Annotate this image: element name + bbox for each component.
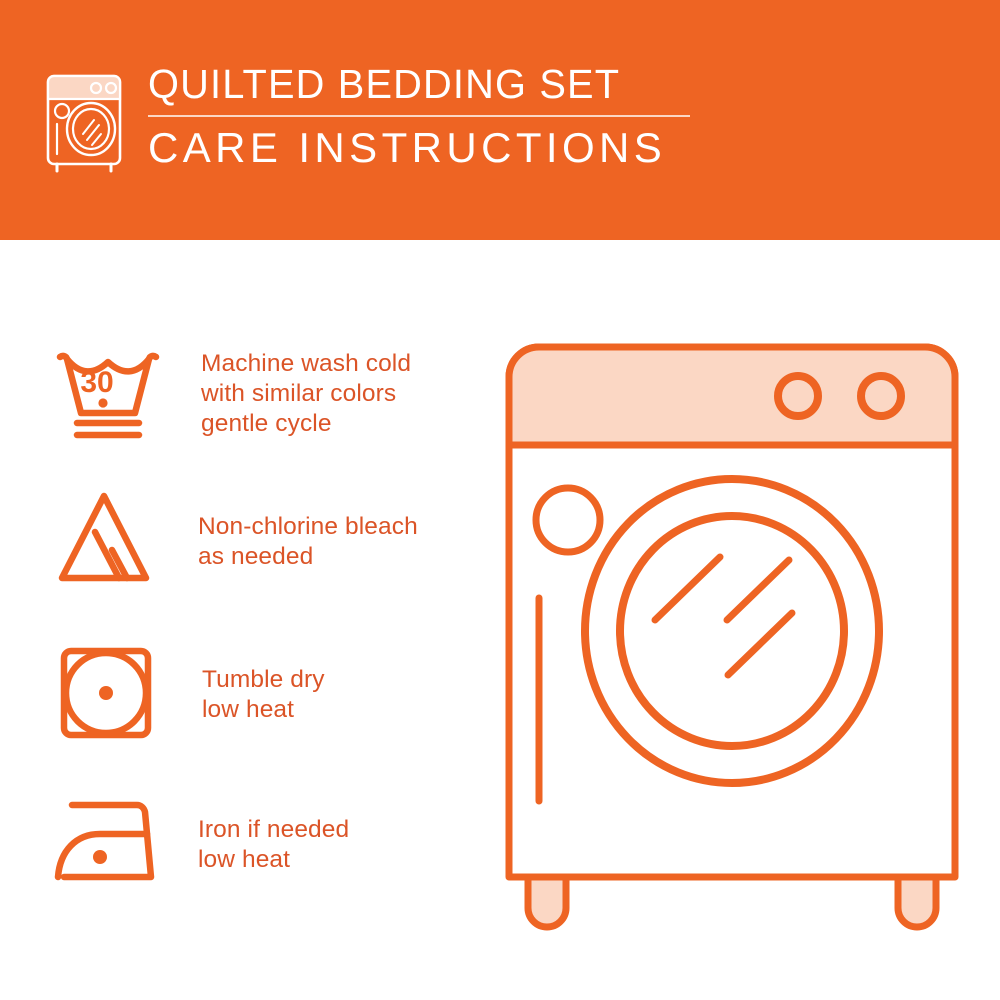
bleach-triangle-icon xyxy=(50,488,166,588)
machine-knob-2 xyxy=(861,376,901,416)
list-item: Non-chlorine bleach as needed xyxy=(50,488,418,588)
wash-temperature-label: 30 xyxy=(80,366,113,399)
list-item: Iron if needed low heat xyxy=(50,793,349,893)
title-block: QUILTED BEDDING SET CARE INSTRUCTIONS xyxy=(148,62,690,171)
list-item-label: Non-chlorine bleach as needed xyxy=(166,488,418,572)
wash-dot-icon xyxy=(98,398,107,407)
wash-basin-30-icon: 30 xyxy=(50,345,166,445)
list-item-label: Iron if needed low heat xyxy=(166,793,349,875)
machine-door-inner-ring xyxy=(620,516,844,746)
header-content: QUILTED BEDDING SET CARE INSTRUCTIONS xyxy=(42,62,690,175)
machine-indicator-light xyxy=(536,488,600,552)
title-divider xyxy=(148,115,690,117)
iron-low-heat-icon xyxy=(50,793,166,893)
list-item-label: Tumble dry low heat xyxy=(166,643,325,725)
list-item: Tumble dry low heat xyxy=(50,643,325,743)
page-header: QUILTED BEDDING SET CARE INSTRUCTIONS xyxy=(0,0,1000,240)
machine-foot-left xyxy=(528,875,566,927)
care-instruction-list: 30 Machine wash cold with similar colors… xyxy=(0,240,500,1000)
washing-machine-illustration xyxy=(495,335,975,935)
dry-heat-dot-icon xyxy=(99,686,113,700)
iron-heat-dot-icon xyxy=(93,850,107,864)
washing-machine-icon xyxy=(42,70,134,175)
page-title: QUILTED BEDDING SET xyxy=(148,62,674,106)
list-item-label: Machine wash cold with similar colors ge… xyxy=(166,345,411,439)
machine-knob-1 xyxy=(778,376,818,416)
tumble-dry-low-icon xyxy=(50,643,166,743)
list-item: 30 Machine wash cold with similar colors… xyxy=(50,345,411,445)
page-subtitle: CARE INSTRUCTIONS xyxy=(148,125,690,171)
machine-foot-right xyxy=(898,875,936,927)
